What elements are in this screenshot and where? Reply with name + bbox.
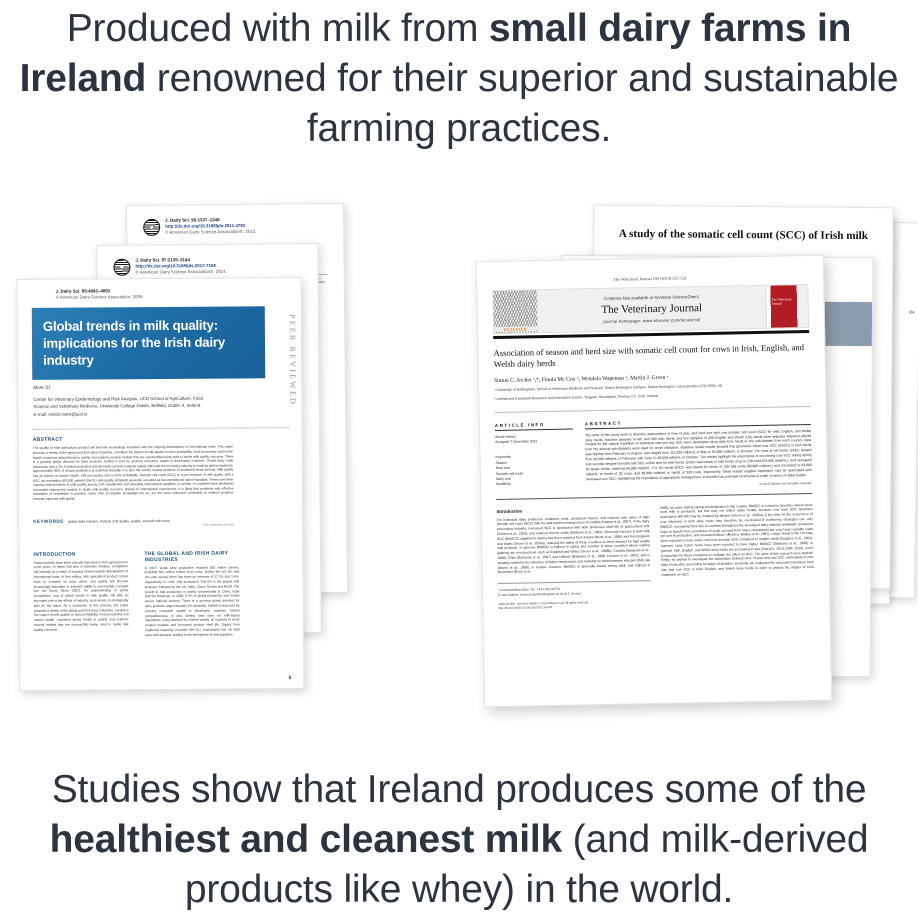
vj-keywords-list: Season Herd size Somatic cell count Dair… — [496, 459, 575, 488]
abstract-heading: ABSTRACT — [33, 436, 233, 443]
global-trends-affiliation: Centre for Veterinary Epidemiology and R… — [33, 396, 218, 410]
vj-running-head: The Veterinary Journal 196 (2013) 515–52… — [492, 273, 808, 284]
vj-article-history-value: Accepted 7 December 2012 — [495, 439, 573, 446]
industries-heading: THE GLOBAL AND IRISH DAIRY INDUSTRIES — [144, 550, 239, 563]
headline-part-1: Produced with milk from — [67, 7, 489, 50]
irish-veterinary-journal-ref: Irish Veterinary Journal — [203, 522, 234, 526]
document-global-trends-milk-quality: J. Dairy Sci. 89:4083–4093 © American Da… — [17, 277, 305, 691]
jds89-copyright: © American Dairy Science Association, 20… — [56, 293, 289, 301]
footline-bold-1: healthiest and cleanest milk — [50, 818, 562, 861]
adsa-globe-icon — [143, 219, 160, 236]
vj-article-title: Association of season and herd size with… — [493, 342, 809, 371]
introduction-heading: INTRODUCTION — [33, 551, 128, 558]
jds97-citation-block: J. Dairy Sci. 97:2135–2144 http://dx.doi… — [113, 256, 301, 276]
jds95-citation-block: J. Dairy Sci. 95:1337–1348 http://dx.doi… — [143, 216, 327, 236]
vj-intro-col-1: For individual dairy producers, treatmen… — [497, 515, 651, 575]
jds97-copyright: © American Dairy Science Association®, 2… — [136, 269, 227, 276]
vj-homepage-line: journal homepage: www.elsevier.com/locat… — [603, 317, 700, 324]
infographic-page: Produced with milk from small dairy farm… — [0, 0, 918, 921]
abstract-text: The quality of Irish agricultural produc… — [33, 445, 234, 502]
introduction-text: Global markets have been critically impo… — [34, 560, 129, 633]
global-trends-title-box: Global trends in milk quality: implicati… — [32, 306, 265, 380]
peer-reviewed-label: PEER REVIEWED — [288, 314, 298, 406]
vj-article-info-heading: ARTICLE INFO — [495, 421, 573, 430]
vj-intro-heading: Introduction — [497, 506, 650, 514]
keywords-text: global dairy industry; Ireland; milk qua… — [68, 518, 170, 523]
global-trends-title: Global trends in milk quality: implicati… — [43, 317, 254, 369]
jds95-copyright: © American Dairy Science Association®, 2… — [165, 229, 256, 236]
headline-text: Produced with milk from small dairy farm… — [0, 4, 918, 154]
headline-part-2: renowned for their superior and sustaina… — [146, 57, 898, 150]
vj-issn-note: 1090-0233/$ - see front matter © 2012 El… — [498, 599, 651, 610]
vj-abstract-copyright: © 2012 Elsevier Ltd. All rights reserved… — [586, 481, 812, 489]
keywords-label: KEYWORDS — [33, 518, 63, 523]
vj-abstract-text: The aims of this study were to describe … — [585, 429, 812, 482]
vj-sciencedirect-line: Contents lists available at SciVerse Sci… — [604, 294, 699, 301]
scc-title: A study of the somatic cell count (SCC) … — [610, 228, 876, 242]
global-trends-email: E-mail: simon.more@ucd.ie — [33, 410, 289, 418]
industries-text: In 2007, world dairy production reached … — [145, 565, 240, 638]
vj-affiliation-b: ᵇ Animal and Grassland Research and Inno… — [494, 391, 810, 402]
footer-text: Studies show that Ireland produces some … — [0, 765, 918, 915]
vj-masthead: Contents lists available at SciVerse Sci… — [492, 284, 809, 334]
global-trends-author: More SJ — [33, 383, 289, 390]
adsa-globe-icon — [113, 259, 130, 276]
footline-part-1: Studies show that Ireland produces some … — [52, 768, 867, 811]
document-veterinary-journal: The Veterinary Journal 196 (2013) 515–52… — [476, 255, 832, 708]
vj-abstract-heading: ABSTRACT — [585, 417, 811, 429]
document-collage: die 2007 and ayer milk lation and Beginn… — [0, 178, 918, 748]
vj-corresponding-note: * Corresponding author. Tel.: +44 1159 5… — [498, 580, 651, 597]
vj-intro-col-2: 2006), because spring-calving predominat… — [660, 503, 814, 578]
elsevier-logo-icon — [493, 290, 538, 333]
page-number: 5 — [289, 675, 292, 681]
jds89-citation-block: J. Dairy Sci. 89:4083–4093 © American Da… — [32, 287, 289, 301]
vj-journal-name: The Veterinary Journal — [601, 302, 702, 316]
vj-cover-thumbnail — [765, 285, 808, 328]
